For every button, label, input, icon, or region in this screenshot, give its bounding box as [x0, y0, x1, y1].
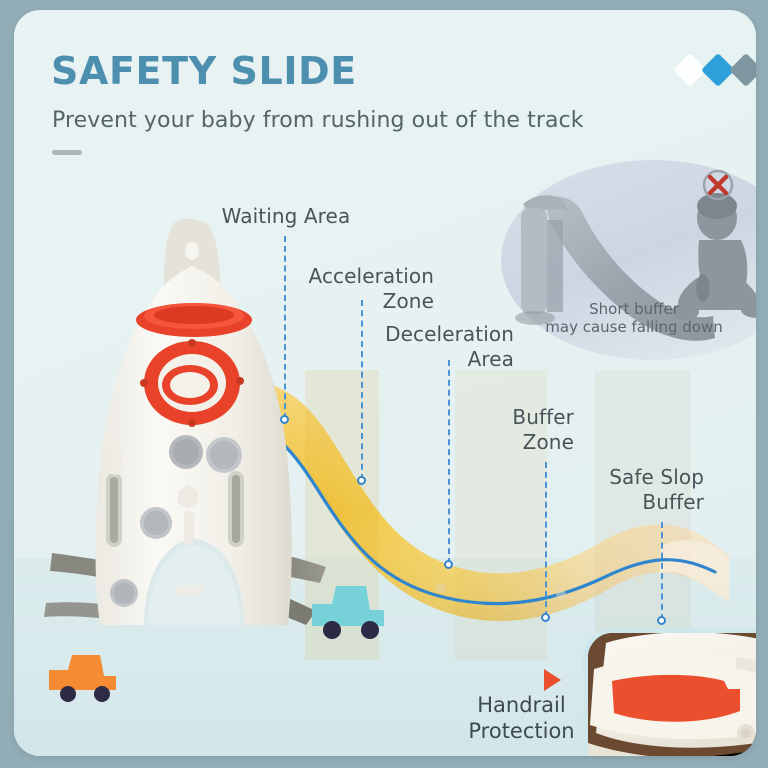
leader-dot-acceleration: [357, 476, 366, 485]
toy-car-teal: [308, 578, 394, 640]
label-handrail-protection: Handrail Protection: [454, 692, 589, 744]
handrail-photo-inset: [583, 628, 756, 756]
leader-dot-safeslop: [657, 616, 666, 625]
content-card: SAFETY SLIDE Prevent your baby from rush…: [14, 10, 756, 756]
title-divider: [52, 150, 82, 155]
page-subtitle: Prevent your baby from rushing out of th…: [52, 108, 584, 133]
label-waiting-area: Waiting Area: [206, 204, 366, 229]
page-title: SAFETY SLIDE: [51, 52, 357, 90]
leader-line-buffer: [545, 462, 547, 617]
leader-dot-waiting: [280, 415, 289, 424]
label-safe-slop-buffer: Safe Slop Buffer: [554, 465, 704, 515]
warning-caption: Short buffer may cause falling down: [501, 300, 756, 336]
toy-car-orange: [46, 648, 124, 704]
label-acceleration-zone: Acceleration Zone: [234, 264, 434, 314]
label-deceleration-area: Deceleration Area: [314, 322, 514, 372]
diamond-gray-icon: [729, 53, 756, 87]
leader-line-deceleration: [448, 360, 450, 564]
infographic-root: SAFETY SLIDE Prevent your baby from rush…: [0, 0, 768, 768]
leader-line-safeslop: [661, 522, 663, 620]
diamond-decoration: [678, 54, 756, 88]
label-buffer-zone: Buffer Zone: [434, 405, 574, 455]
warning-inset: Short buffer may cause falling down: [501, 160, 756, 370]
pointer-triangle-icon: [544, 669, 561, 691]
circle-x-icon: [701, 168, 735, 202]
leader-dot-buffer: [541, 613, 550, 622]
leader-dot-deceleration: [444, 560, 453, 569]
